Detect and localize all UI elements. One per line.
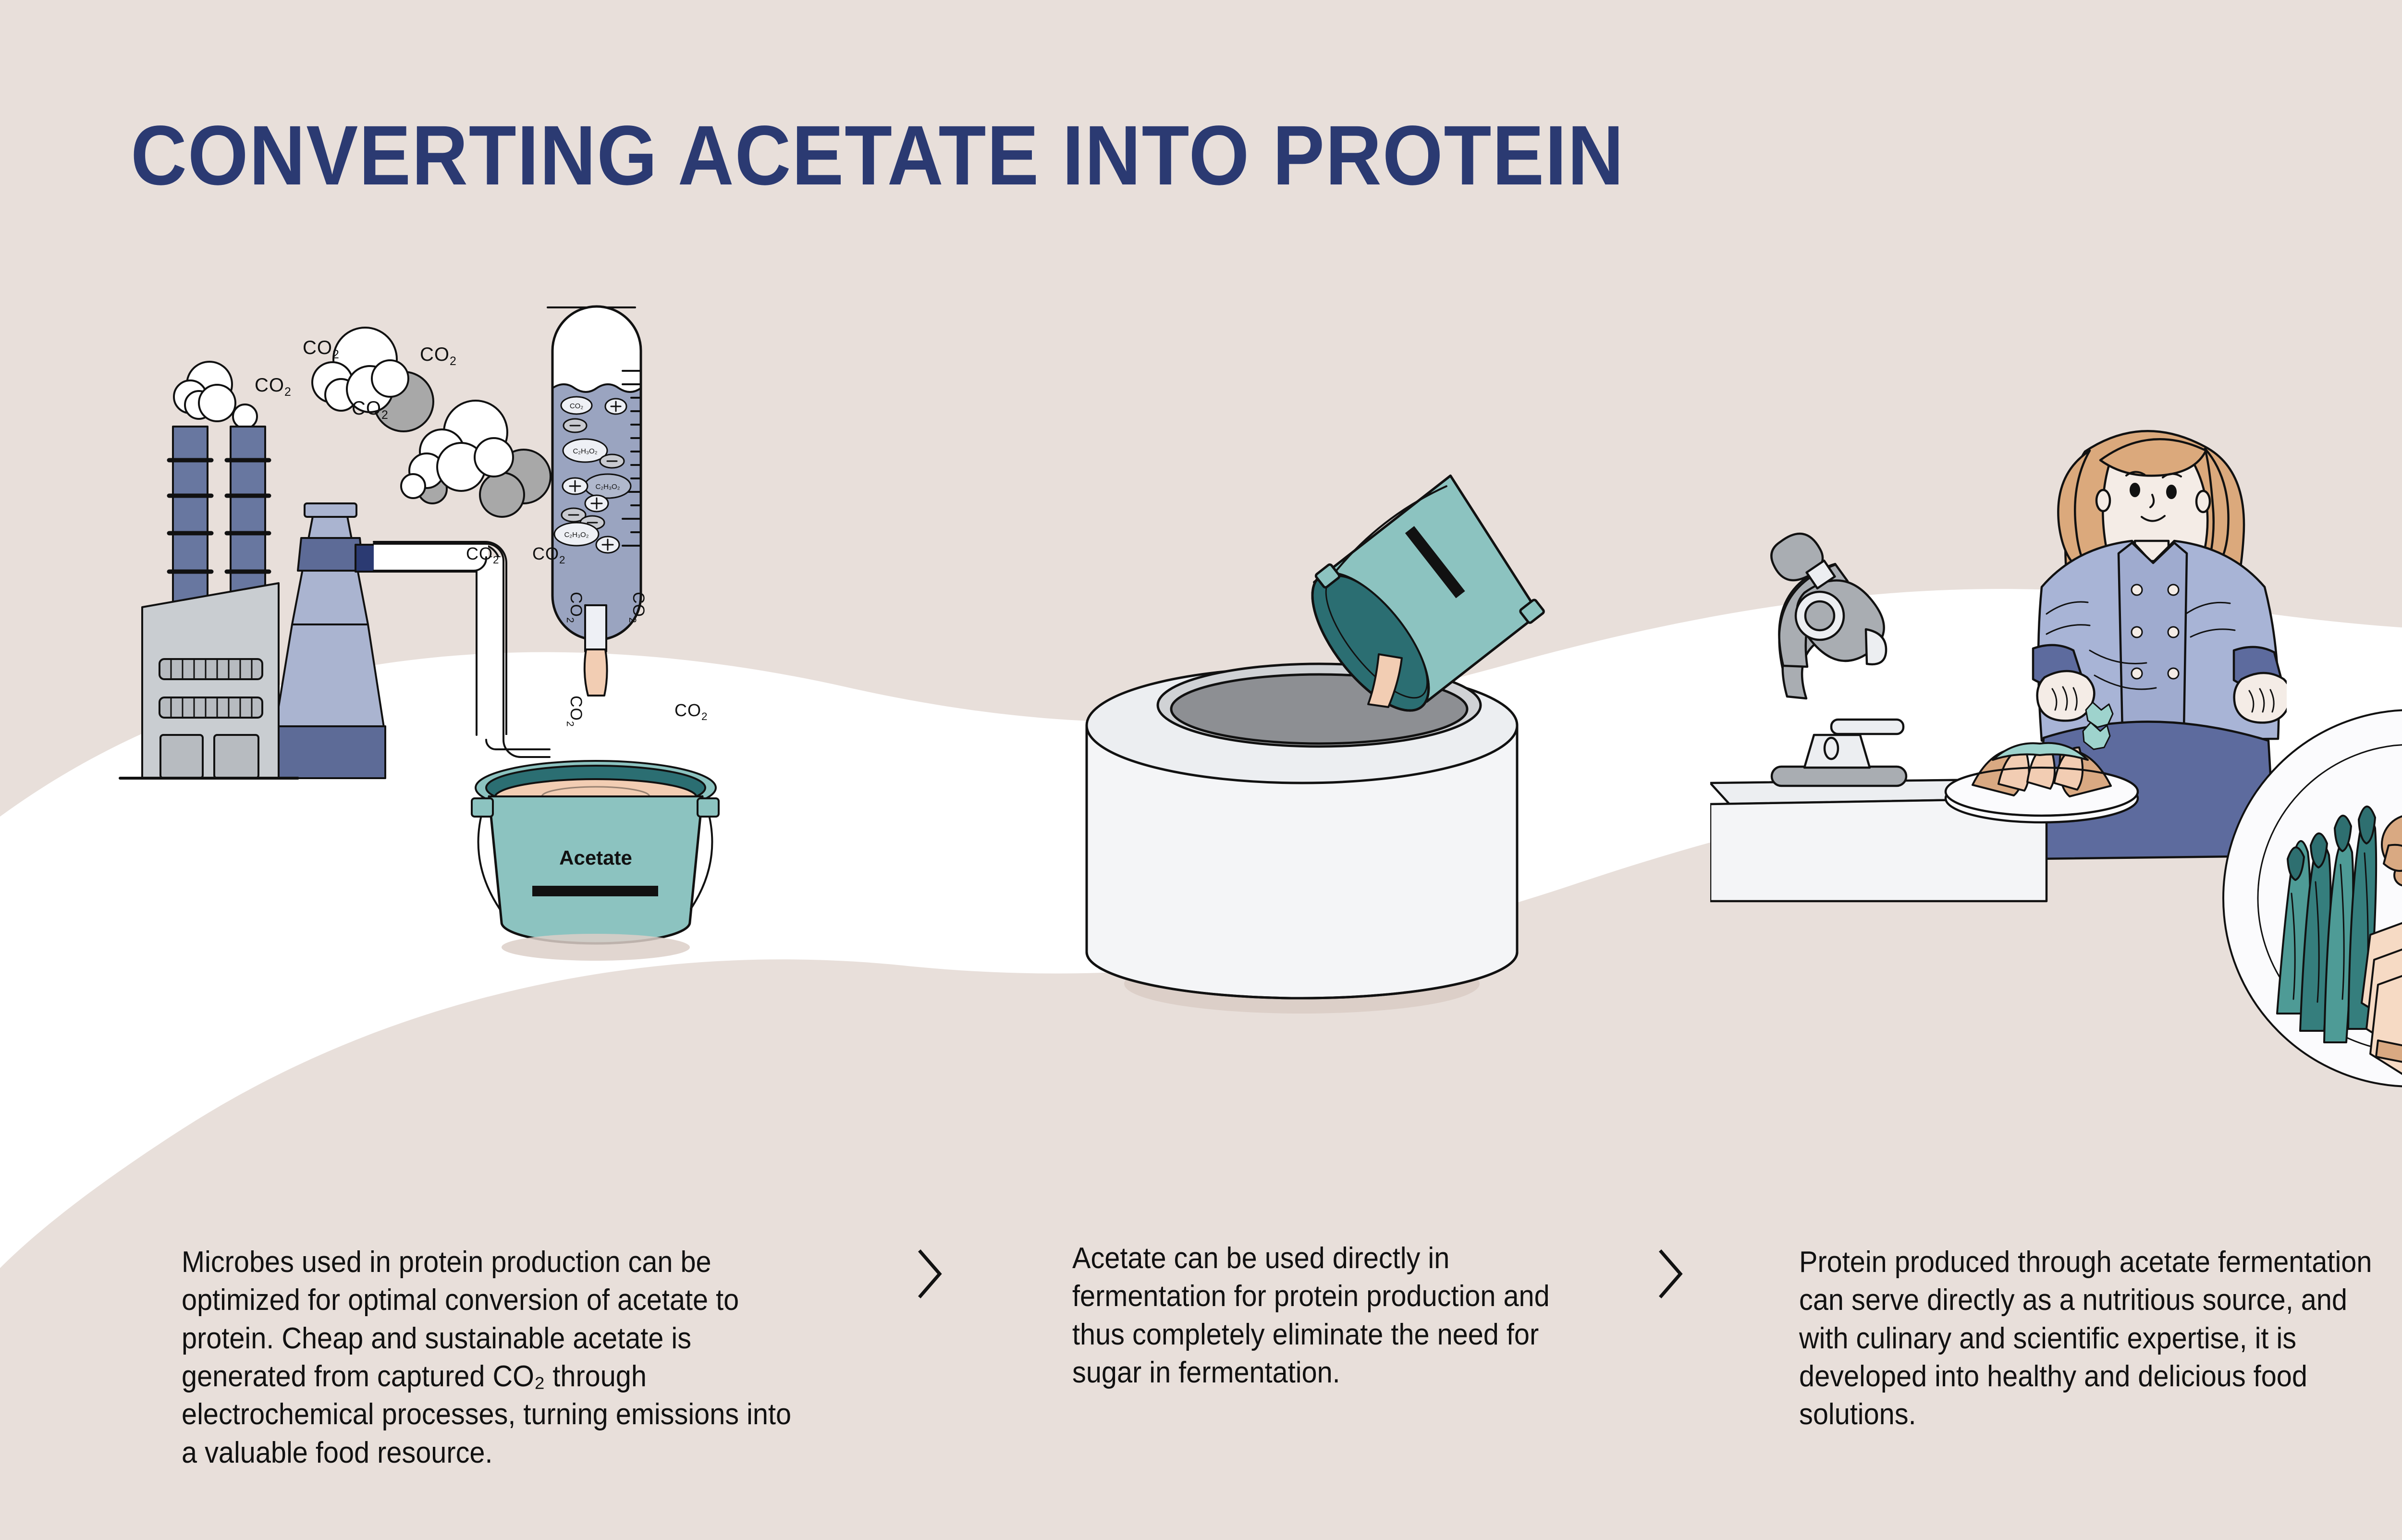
svg-text:C₂H₃O₂: C₂H₃O₂ xyxy=(573,447,597,455)
bubble-plus-4 xyxy=(596,537,619,553)
electrolyzer-spout xyxy=(585,605,606,651)
bucket-body xyxy=(489,796,702,943)
co2-label-pipe-6: CO2 xyxy=(674,700,708,723)
co2-label-smoke-4: CO2 xyxy=(352,398,389,422)
bubble-plus-3 xyxy=(585,495,608,512)
acetate-bucket: Acetate xyxy=(472,761,719,961)
acetate-pour-stream xyxy=(585,649,607,696)
step-caption-2-text: Acetate can be used directly in fermenta… xyxy=(1072,1239,1555,1392)
smoke-puff-grey-c xyxy=(480,473,524,517)
co2-label-pipe-4: CO2 xyxy=(564,696,585,727)
illustration-factory-co2-capture: CO₂ C₂H₃O₂ xyxy=(96,288,745,1153)
page-title: CONVERTING ACETATE INTO PROTEIN xyxy=(131,113,1625,198)
step-caption-3-text: Protein produced through acetate ferment… xyxy=(1799,1243,2380,1434)
bubble-minus-1 xyxy=(564,419,587,432)
illustration-food-plate xyxy=(2219,706,2402,1090)
bubble-acetate-3: C₂H₃O₂ xyxy=(554,523,599,546)
co2-label-smoke-3: CO2 xyxy=(420,344,457,368)
step-caption-2: Acetate can be used directly in fermenta… xyxy=(1072,1239,1555,1392)
smoke-cloud-left xyxy=(174,362,235,421)
bubble-minus-2 xyxy=(600,454,624,468)
co2-pipe-body xyxy=(374,544,549,762)
bubble-plus-2 xyxy=(563,478,588,494)
svg-text:C₂H₃O₂: C₂H₃O₂ xyxy=(595,483,620,491)
bucket-shadow xyxy=(502,934,690,961)
smoke-puff-stack xyxy=(233,404,257,428)
co2-pipe-outline xyxy=(374,544,550,757)
chef-hand-left xyxy=(2037,671,2095,721)
co2-label-pipe-5: CO2 xyxy=(626,592,648,623)
co2-label-pipe-3: CO2 xyxy=(564,592,585,623)
svg-text:C₂H₃O₂: C₂H₃O₂ xyxy=(564,531,588,539)
illustration-fermentation-tank xyxy=(1033,447,1633,1047)
factory-window-strip-lower xyxy=(159,697,262,718)
factory-building xyxy=(142,583,279,778)
svg-text:CO₂: CO₂ xyxy=(570,402,584,410)
bubble-co2: CO₂ xyxy=(561,397,592,414)
co2-label-smoke-1: CO2 xyxy=(255,375,292,399)
bucket-stripe xyxy=(532,886,658,896)
step-caption-1-text: Microbes used in protein production can … xyxy=(182,1243,798,1472)
factory-window-strip-upper xyxy=(159,659,262,679)
cooling-tower xyxy=(275,503,385,778)
co2-label-pipe-2: CO2 xyxy=(532,544,565,566)
bucket-label-text: Acetate xyxy=(559,846,632,869)
microscope-base xyxy=(1772,767,1906,786)
chef-ear-left xyxy=(2096,490,2110,511)
microscope-focus-knob xyxy=(1825,738,1838,759)
chef-jacket-placket xyxy=(2119,543,2187,732)
bucket-lug-right xyxy=(698,798,719,817)
bubble-acetate-2: C₂H₃O₂ xyxy=(585,474,631,498)
bucket-lug-left xyxy=(472,798,493,817)
factory-door-left xyxy=(160,735,203,778)
bubble-plus-1 xyxy=(605,399,626,414)
microscope xyxy=(1771,534,1906,786)
chef-ear-right xyxy=(2196,491,2210,512)
step-caption-3: Protein produced through acetate ferment… xyxy=(1799,1243,2380,1434)
caption-row: Microbes used in protein production can … xyxy=(0,1230,2402,1499)
microscope-stage xyxy=(1831,720,1903,734)
factory-door-right xyxy=(214,735,258,778)
infographic-canvas: CONVERTING ACETATE INTO PROTEIN xyxy=(0,0,2402,1540)
co2-label-smoke-2: CO2 xyxy=(303,337,340,362)
step-caption-1: Microbes used in protein production can … xyxy=(182,1243,798,1472)
illustration-chef-with-microscope xyxy=(1710,399,2287,903)
co2-label-pipe-1: CO2 xyxy=(466,544,499,566)
